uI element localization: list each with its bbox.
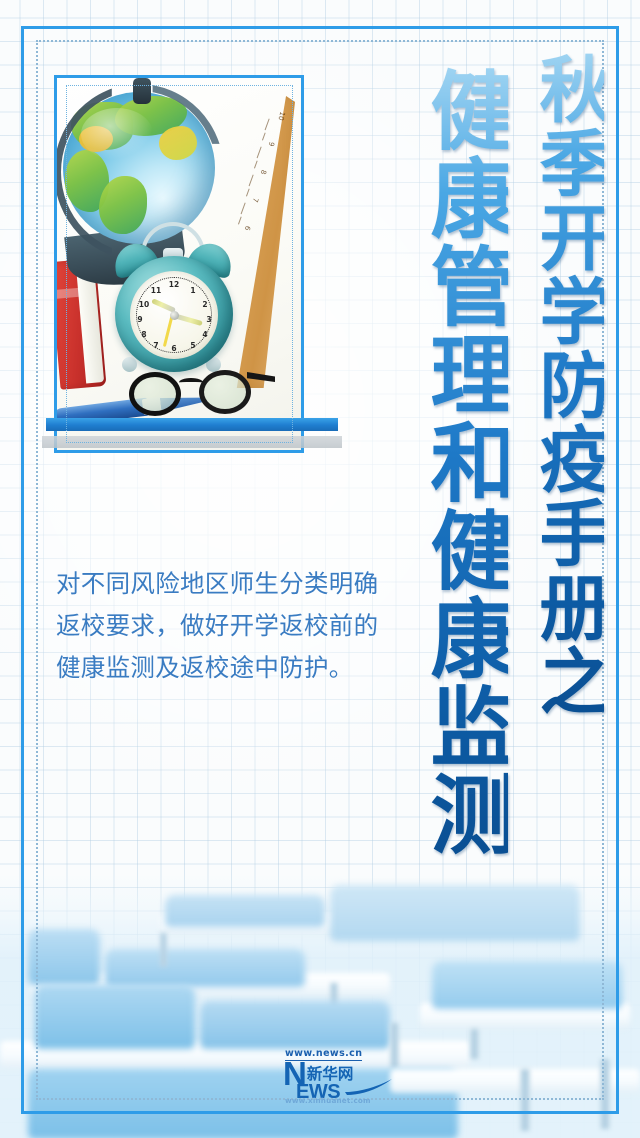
alarm-clock-icon: 12 1 2 3 4 5 6 7 8 9 10 11 [111, 232, 237, 372]
ruler-tick [256, 146, 261, 158]
chair-back [165, 895, 325, 927]
poster-canvas: 10 9 8 7 6 [0, 0, 640, 1138]
ruler-number: 9 [267, 141, 276, 147]
clock-number: 10 [138, 300, 150, 309]
clock-number: 8 [138, 330, 150, 339]
clock-number: 5 [187, 341, 199, 350]
ruler-tick [254, 160, 258, 168]
chair-back [28, 929, 100, 985]
ruler-tick [240, 202, 245, 214]
desk-leg [160, 933, 167, 967]
xinhua-news-logo[interactable]: www.news.cn N 新华网 EWS www.xinhuanet.com [283, 1048, 393, 1104]
clock-face: 12 1 2 3 4 5 6 7 8 9 10 11 [130, 271, 218, 359]
accent-bar-shadow [42, 436, 342, 448]
desk-leg [600, 1059, 610, 1129]
clock-number: 7 [150, 341, 162, 350]
clock-number: 4 [199, 330, 211, 339]
illustration-border: 10 9 8 7 6 [54, 75, 304, 453]
logo-url-bottom: www.xinhuanet.com [285, 1096, 371, 1105]
eyeglass-lens-left [129, 372, 181, 416]
poster-subtitle-vertical: 秋季开学防疫手册之 [532, 52, 604, 718]
eyeglasses-icon [129, 370, 285, 418]
ruler-tick [238, 216, 242, 224]
ruler-number: 6 [243, 225, 252, 231]
clock-number: 2 [199, 300, 211, 309]
clock-number: 1 [187, 286, 199, 295]
poster-body-paragraph: 对不同风险地区师生分类明确返校要求，做好开学返校前的健康监测及返校途中防护。 [56, 564, 380, 690]
ruler-number: 8 [259, 169, 268, 175]
desk-leg [520, 1069, 530, 1131]
accent-bar [46, 418, 338, 431]
illustration-scene: 10 9 8 7 6 [57, 78, 301, 450]
ruler-tick [264, 118, 269, 130]
ruler-tick [246, 188, 250, 196]
chair-back [330, 885, 580, 941]
ruler-tick [248, 174, 253, 186]
eyeglass-bridge [179, 378, 203, 387]
chair-back [105, 949, 305, 987]
illustration-card: 10 9 8 7 6 [54, 75, 304, 453]
ruler-number: 7 [251, 197, 260, 203]
clock-number: 3 [203, 315, 215, 324]
clock-number: 11 [150, 286, 162, 295]
globe-axis-knob [133, 78, 151, 104]
eyeglass-lens-right [199, 370, 251, 414]
poster-title-vertical: 健康管理和健康监测 [422, 66, 508, 858]
chair-back [35, 985, 195, 1049]
chair-back [432, 961, 622, 1009]
clock-number: 9 [134, 315, 146, 324]
clock-center-pin [170, 311, 179, 320]
clock-case: 12 1 2 3 4 5 6 7 8 9 10 11 [115, 256, 233, 372]
clock-number: 12 [168, 280, 180, 289]
clock-number: 6 [168, 344, 180, 353]
chair-back [200, 1001, 390, 1049]
logo-swoosh-icon [345, 1078, 393, 1096]
eyeglass-temple [247, 372, 275, 382]
ruler-tick [262, 132, 266, 140]
